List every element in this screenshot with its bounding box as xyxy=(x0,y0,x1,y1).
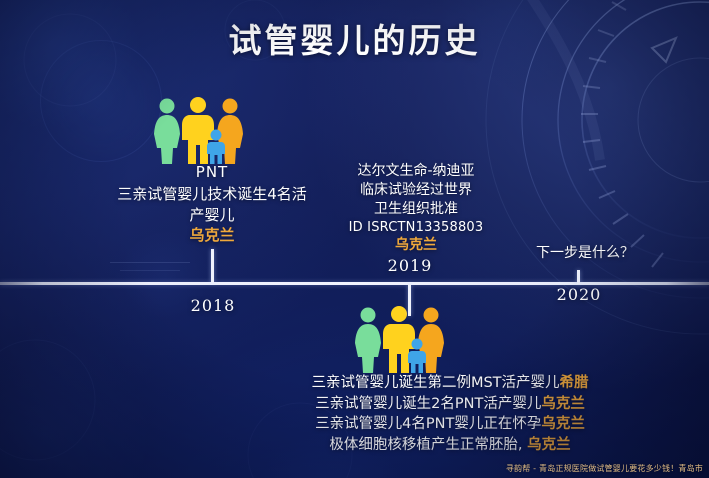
list-item: 极体细胞核移植产生正常胚胎, 乌克兰 xyxy=(282,435,618,456)
watermark-text: 寻韵帮 - 青岛正规医院做试管婴儿要花多少钱！青岛市 xyxy=(506,463,703,474)
event-line-text: 三亲试管婴儿诞生2名PNT活产婴儿 xyxy=(315,396,541,412)
family-icon-group-2018 xyxy=(152,96,244,171)
timeline-year-2019: 2019 xyxy=(379,256,441,275)
timeline-year-2018: 2018 xyxy=(182,296,244,315)
event-line-text: 极体细胞核移植产生正常胚胎, xyxy=(329,437,522,453)
page-title: 试管婴儿的历史 xyxy=(0,14,709,62)
background-glow-2 xyxy=(0,330,150,478)
event-text-2019-lower: 三亲试管婴儿诞生第二例MST活产婴儿希腊 三亲试管婴儿诞生2名PNT活产婴儿乌克… xyxy=(282,373,618,455)
event-line-3: 卫生组织批准 xyxy=(332,200,500,219)
timeline-tick-2018 xyxy=(211,249,214,283)
family-icon-group-2019 xyxy=(353,305,445,380)
event-country: 乌克兰 xyxy=(527,437,571,453)
event-text-2020: 下一步是什么？ xyxy=(510,244,660,263)
timeline-tick-2020 xyxy=(577,270,580,284)
event-country: 乌克兰 xyxy=(541,416,585,432)
woman-green-icon xyxy=(355,308,381,374)
timeline-tick-2019 xyxy=(408,284,411,316)
event-text-2018: PNT 三亲试管婴儿技术诞生4名活 产婴儿 乌克兰 xyxy=(96,162,328,245)
timeline-year-2020: 2020 xyxy=(548,285,610,304)
event-line-1: 三亲试管婴儿技术诞生4名活 xyxy=(96,184,328,204)
event-line-1: 达尔文生命-纳迪亚 xyxy=(332,162,500,181)
event-label-pnt: PNT xyxy=(96,162,328,182)
event-country: 乌克兰 xyxy=(332,236,500,255)
event-text-2019-upper: 达尔文生命-纳迪亚 临床试验经过世界 卫生组织批准 ID ISRCTN13358… xyxy=(332,162,500,255)
event-line-text: 三亲试管婴儿诞生第二例MST活产婴儿 xyxy=(311,375,559,391)
list-item: 三亲试管婴儿4名PNT婴儿正在怀孕乌克兰 xyxy=(282,414,618,435)
list-item: 三亲试管婴儿诞生第二例MST活产婴儿希腊 xyxy=(282,373,618,394)
event-country: 希腊 xyxy=(560,375,589,391)
event-country: 乌克兰 xyxy=(541,396,585,412)
presentation-slide: 试管婴儿的历史 xyxy=(0,0,709,478)
trial-registration-id: ID ISRCTN13358803 xyxy=(332,219,500,237)
woman-green-icon xyxy=(154,99,180,165)
event-line-2: 临床试验经过世界 xyxy=(332,181,500,200)
event-line-2: 产婴儿 xyxy=(96,205,328,225)
event-country: 乌克兰 xyxy=(96,225,328,245)
list-item: 三亲试管婴儿诞生2名PNT活产婴儿乌克兰 xyxy=(282,394,618,415)
next-step-question: 下一步是什么？ xyxy=(510,244,660,263)
event-line-text: 三亲试管婴儿4名PNT婴儿正在怀孕 xyxy=(315,416,541,432)
